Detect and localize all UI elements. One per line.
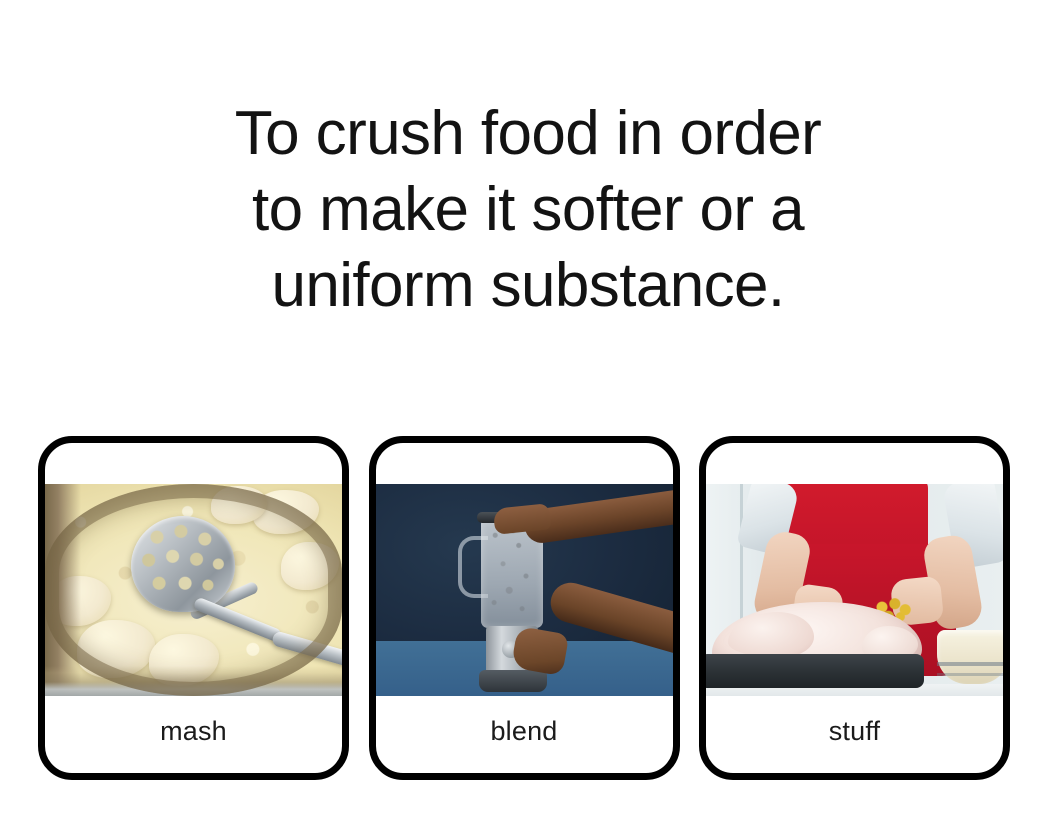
- definition-prompt: To crush food in order to make it softer…: [0, 96, 1056, 324]
- blend-image: [376, 484, 673, 696]
- blender-base: [479, 670, 547, 692]
- prompt-line-1: To crush food in order: [0, 96, 1056, 172]
- prompt-line-2: to make it softer or a: [0, 172, 1056, 248]
- roasting-pan: [706, 654, 924, 688]
- mashed-potatoes-illustration: [45, 484, 342, 696]
- answer-card-stuff[interactable]: stuff: [699, 436, 1010, 780]
- blender-illustration: [376, 484, 673, 696]
- answer-choice-row: mash: [38, 436, 1010, 780]
- answer-card-mash[interactable]: mash: [38, 436, 349, 780]
- answer-label-stuff: stuff: [706, 696, 1003, 773]
- bowl-vignette: [45, 484, 342, 696]
- bowl-stripe: [937, 662, 1003, 666]
- prompt-line-3: uniform substance.: [0, 248, 1056, 324]
- answer-card-blend[interactable]: blend: [369, 436, 680, 780]
- bowl-stripe: [937, 673, 1003, 676]
- answer-label-mash: mash: [45, 696, 342, 773]
- stuff-image: [706, 484, 1003, 696]
- stuffing-turkey-illustration: [706, 484, 1003, 696]
- flashcard-screen: To crush food in order to make it softer…: [0, 0, 1056, 816]
- mash-image: [45, 484, 342, 696]
- answer-label-blend: blend: [376, 696, 673, 773]
